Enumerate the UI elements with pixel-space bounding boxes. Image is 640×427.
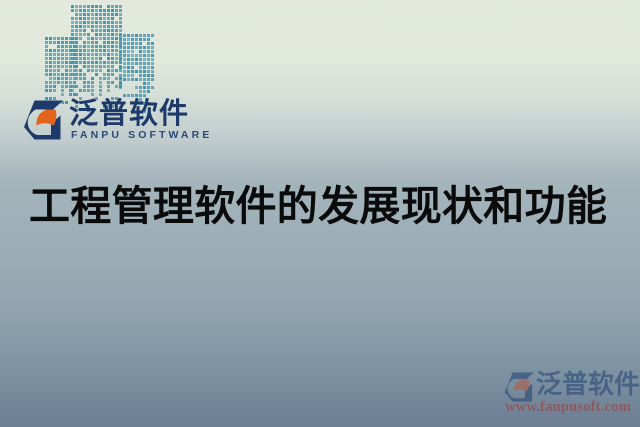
skyline-pixel-tile xyxy=(115,45,118,48)
skyline-pixel-tile xyxy=(87,89,90,92)
skyline-pixel-tile xyxy=(115,49,118,52)
skyline-pixel-tile xyxy=(71,5,74,8)
skyline-pixel-tile xyxy=(115,57,118,60)
skyline-pixel-tile xyxy=(79,5,82,8)
skyline-pixel-tile xyxy=(151,66,154,69)
skyline-pixel-tile xyxy=(131,62,134,65)
skyline-pixel-tile xyxy=(107,81,110,84)
skyline-pixel-tile xyxy=(65,85,68,88)
skyline-pixel-tile xyxy=(139,70,142,73)
skyline-pixel-tile xyxy=(143,46,146,49)
skyline-pixel-tile xyxy=(71,85,74,88)
skyline-pixel-tile xyxy=(107,25,110,28)
skyline-pixel-tile xyxy=(45,45,48,48)
pixel-mosaic-city-skyline-graphic xyxy=(40,4,146,98)
skyline-pixel-tile xyxy=(147,90,150,93)
skyline-pixel-tile xyxy=(79,77,82,80)
skyline-pixel-tile xyxy=(75,57,78,60)
skyline-pixel-tile xyxy=(99,21,102,24)
skyline-pixel-tile xyxy=(135,86,138,89)
skyline-pixel-tile xyxy=(119,17,122,20)
skyline-pixel-tile xyxy=(147,62,150,65)
skyline-pixel-tile xyxy=(151,74,154,77)
skyline-pixel-tile xyxy=(119,58,122,61)
skyline-pixel-tile xyxy=(53,73,56,76)
skyline-pixel-tile xyxy=(151,70,154,73)
skyline-pixel-tile xyxy=(49,37,52,40)
skyline-pixel-tile xyxy=(143,74,146,77)
skyline-pixel-tile xyxy=(115,37,118,40)
skyline-pixel-tile xyxy=(107,77,110,80)
skyline-pixel-tile xyxy=(143,54,146,57)
skyline-pixel-tile xyxy=(49,85,52,88)
skyline-pixel-tile xyxy=(49,61,52,64)
skyline-pixel-tile xyxy=(107,21,110,24)
skyline-pixel-tile xyxy=(79,25,82,28)
skyline-pixel-tile xyxy=(83,45,86,48)
skyline-pixel-tile xyxy=(53,49,56,52)
skyline-pixel-tile xyxy=(79,61,82,64)
skyline-pixel-tile xyxy=(139,42,142,45)
skyline-pixel-tile xyxy=(49,53,52,56)
skyline-pixel-tile xyxy=(95,9,98,12)
skyline-pixel-tile xyxy=(139,66,142,69)
skyline-pixel-tile xyxy=(91,41,94,44)
skyline-pixel-tile xyxy=(111,17,114,20)
skyline-pixel-tile xyxy=(87,33,90,36)
skyline-pixel-tile xyxy=(79,13,82,16)
skyline-pixel-tile xyxy=(49,81,52,84)
skyline-pixel-tile xyxy=(103,13,106,16)
skyline-pixel-tile xyxy=(45,49,48,52)
skyline-pixel-tile xyxy=(79,29,82,32)
skyline-pixel-tile xyxy=(139,46,142,49)
skyline-pixel-tile xyxy=(83,29,86,32)
skyline-pixel-tile xyxy=(61,41,64,44)
skyline-pixel-tile xyxy=(103,29,106,32)
skyline-pixel-tile xyxy=(119,54,122,57)
skyline-pixel-tile xyxy=(131,46,134,49)
skyline-pixel-tile xyxy=(61,81,64,84)
skyline-pixel-tile xyxy=(75,37,78,40)
skyline-pixel-tile xyxy=(147,58,150,61)
skyline-pixel-tile xyxy=(107,9,110,12)
skyline-pixel-tile xyxy=(99,49,102,52)
skyline-pixel-tile xyxy=(103,73,106,76)
skyline-pixel-tile xyxy=(49,77,52,80)
skyline-pixel-tile xyxy=(139,94,142,97)
skyline-pixel-tile xyxy=(53,65,56,68)
brand-logo: 泛普软件 FANPU SOFTWARE xyxy=(22,99,174,143)
skyline-pixel-tile xyxy=(119,82,122,85)
skyline-pixel-tile xyxy=(71,25,74,28)
skyline-pixel-tile xyxy=(131,66,134,69)
skyline-pixel-tile xyxy=(127,94,130,97)
fanpu-hexagon-logo-mark-icon xyxy=(503,372,535,402)
skyline-pixel-tile xyxy=(127,34,130,37)
skyline-pixel-tile xyxy=(65,53,68,56)
skyline-pixel-tile xyxy=(49,41,52,44)
skyline-pixel-tile xyxy=(79,9,82,12)
skyline-pixel-tile xyxy=(123,42,126,45)
skyline-pixel-tile xyxy=(107,85,110,88)
skyline-pixel-tile xyxy=(87,61,90,64)
skyline-pixel-tile xyxy=(87,41,90,44)
brand-name-en: FANPU SOFTWARE xyxy=(71,129,212,141)
skyline-pixel-tile xyxy=(115,69,118,72)
skyline-pixel-tile xyxy=(123,62,126,65)
skyline-pixel-tile xyxy=(103,17,106,20)
skyline-pixel-tile xyxy=(151,62,154,65)
skyline-pixel-tile xyxy=(147,42,150,45)
fanpu-hexagon-logo-mark-icon xyxy=(22,100,64,140)
skyline-pixel-tile xyxy=(75,17,78,20)
skyline-pixel-tile xyxy=(151,54,154,57)
skyline-pixel-tile xyxy=(119,9,122,12)
skyline-pixel-tile xyxy=(71,53,74,56)
skyline-pixel-tile xyxy=(57,57,60,60)
skyline-pixel-tile xyxy=(107,33,110,36)
skyline-pixel-tile xyxy=(71,21,74,24)
skyline-pixel-tile xyxy=(71,9,74,12)
skyline-pixel-tile xyxy=(107,5,110,8)
skyline-pixel-tile xyxy=(111,69,114,72)
skyline-pixel-tile xyxy=(147,70,150,73)
skyline-pixel-tile xyxy=(49,89,52,92)
skyline-pixel-tile xyxy=(151,34,154,37)
skyline-pixel-tile xyxy=(45,61,48,64)
skyline-pixel-tile xyxy=(103,61,106,64)
skyline-pixel-tile xyxy=(45,69,48,72)
skyline-pixel-tile xyxy=(139,86,142,89)
skyline-pixel-tile xyxy=(45,37,48,40)
skyline-pixel-tile xyxy=(147,50,150,53)
skyline-pixel-tile xyxy=(61,45,64,48)
skyline-pixel-tile xyxy=(119,78,122,81)
skyline-pixel-tile xyxy=(147,34,150,37)
skyline-pixel-tile xyxy=(83,85,86,88)
skyline-pixel-tile xyxy=(139,58,142,61)
skyline-pixel-tile xyxy=(107,65,110,68)
skyline-pixel-tile xyxy=(135,94,138,97)
skyline-pixel-tile xyxy=(115,5,118,8)
skyline-pixel-tile xyxy=(91,29,94,32)
skyline-pixel-tile xyxy=(143,38,146,41)
skyline-pixel-tile xyxy=(71,49,74,52)
skyline-pixel-tile xyxy=(91,69,94,72)
skyline-pixel-tile xyxy=(87,9,90,12)
skyline-pixel-tile xyxy=(83,41,86,44)
skyline-pixel-tile xyxy=(75,45,78,48)
skyline-pixel-tile xyxy=(69,81,72,84)
brand-name-cn: 泛普软件 xyxy=(69,98,189,130)
skyline-pixel-tile xyxy=(71,89,74,92)
skyline-pixel-tile xyxy=(99,37,102,40)
skyline-pixel-tile xyxy=(107,53,110,56)
skyline-pixel-tile xyxy=(143,82,146,85)
skyline-pixel-tile xyxy=(127,50,130,53)
skyline-pixel-tile xyxy=(135,70,138,73)
skyline-pixel-tile xyxy=(49,49,52,52)
skyline-pixel-tile xyxy=(49,65,52,68)
skyline-pixel-tile xyxy=(71,33,74,36)
skyline-pixel-tile xyxy=(65,57,68,60)
skyline-pixel-tile xyxy=(107,61,110,64)
skyline-pixel-tile xyxy=(91,17,94,20)
skyline-pixel-tile xyxy=(83,81,86,84)
skyline-pixel-tile xyxy=(57,37,60,40)
skyline-pixel-tile xyxy=(57,65,60,68)
skyline-pixel-tile xyxy=(143,58,146,61)
skyline-pixel-tile xyxy=(95,33,98,36)
skyline-pixel-tile xyxy=(143,70,146,73)
skyline-pixel-tile xyxy=(103,41,106,44)
skyline-pixel-tile xyxy=(151,46,154,49)
watermark-url: www.fanpusoft.com xyxy=(505,399,631,415)
slide-canvas: 泛普软件 FANPU SOFTWARE 工程管理软件的发展现状和功能 泛普软件 … xyxy=(0,0,640,427)
skyline-pixel-tile xyxy=(107,69,110,72)
skyline-pixel-tile xyxy=(111,81,114,84)
skyline-pixel-tile xyxy=(123,54,126,57)
skyline-pixel-tile xyxy=(115,53,118,56)
skyline-pixel-tile xyxy=(135,58,138,61)
skyline-pixel-tile xyxy=(61,93,64,96)
skyline-pixel-tile xyxy=(131,94,134,97)
skyline-pixel-tile xyxy=(75,41,78,44)
skyline-pixel-tile xyxy=(107,45,110,48)
skyline-pixel-tile xyxy=(119,46,122,49)
skyline-pixel-tile xyxy=(53,61,56,64)
skyline-pixel-tile xyxy=(107,13,110,16)
skyline-pixel-tile xyxy=(53,37,56,40)
skyline-pixel-tile xyxy=(143,78,146,81)
skyline-pixel-tile xyxy=(45,57,48,60)
skyline-pixel-tile xyxy=(143,66,146,69)
skyline-pixel-tile xyxy=(127,42,130,45)
skyline-pixel-tile xyxy=(65,45,68,48)
skyline-pixel-tile xyxy=(135,42,138,45)
skyline-pixel-tile xyxy=(87,81,90,84)
skyline-pixel-tile xyxy=(107,57,110,60)
skyline-pixel-tile xyxy=(99,65,102,68)
skyline-pixel-tile xyxy=(79,49,82,52)
skyline-pixel-tile xyxy=(61,65,64,68)
skyline-pixel-tile xyxy=(75,29,78,32)
skyline-pixel-tile xyxy=(111,13,114,16)
skyline-pixel-tile xyxy=(57,41,60,44)
skyline-pixel-tile xyxy=(123,58,126,61)
skyline-pixel-tile xyxy=(83,65,86,68)
skyline-pixel-tile xyxy=(69,77,72,80)
skyline-pixel-tile xyxy=(147,82,150,85)
skyline-pixel-tile xyxy=(127,38,130,41)
skyline-pixel-tile xyxy=(151,50,154,53)
skyline-pixel-tile xyxy=(119,5,122,8)
skyline-pixel-tile xyxy=(57,61,60,64)
skyline-pixel-tile xyxy=(61,85,64,88)
skyline-pixel-tile xyxy=(75,61,78,64)
skyline-pixel-tile xyxy=(57,77,60,80)
skyline-pixel-tile xyxy=(115,13,118,16)
skyline-pixel-tile xyxy=(57,45,60,48)
skyline-pixel-tile xyxy=(79,21,82,24)
skyline-pixel-tile xyxy=(71,57,74,60)
skyline-pixel-tile xyxy=(61,73,64,76)
skyline-pixel-tile xyxy=(69,65,72,68)
skyline-pixel-tile xyxy=(91,25,94,28)
skyline-pixel-tile xyxy=(99,29,102,32)
skyline-pixel-tile xyxy=(143,86,146,89)
skyline-pixel-tile xyxy=(45,73,48,76)
skyline-pixel-tile xyxy=(83,5,86,8)
skyline-pixel-tile xyxy=(65,37,68,40)
skyline-pixel-tile xyxy=(99,13,102,16)
skyline-pixel-tile xyxy=(99,45,102,48)
skyline-pixel-tile xyxy=(99,53,102,56)
skyline-pixel-tile xyxy=(95,5,98,8)
skyline-pixel-tile xyxy=(75,53,78,56)
skyline-pixel-tile xyxy=(71,41,74,44)
skyline-pixel-tile xyxy=(127,70,130,73)
skyline-pixel-tile xyxy=(69,93,72,96)
skyline-pixel-tile xyxy=(45,53,48,56)
skyline-pixel-tile xyxy=(119,34,122,37)
skyline-pixel-tile xyxy=(111,41,114,44)
skyline-pixel-tile xyxy=(111,49,114,52)
skyline-pixel-tile xyxy=(107,73,110,76)
skyline-pixel-tile xyxy=(111,21,114,24)
skyline-pixel-tile xyxy=(83,17,86,20)
skyline-pixel-tile xyxy=(103,45,106,48)
skyline-pixel-tile xyxy=(111,57,114,60)
skyline-pixel-tile xyxy=(83,25,86,28)
skyline-pixel-tile xyxy=(91,21,94,24)
skyline-pixel-tile xyxy=(131,58,134,61)
skyline-pixel-tile xyxy=(75,5,78,8)
skyline-pixel-tile xyxy=(111,9,114,12)
skyline-pixel-tile xyxy=(143,34,146,37)
skyline-pixel-tile xyxy=(95,49,98,52)
skyline-pixel-tile xyxy=(95,41,98,44)
skyline-pixel-tile xyxy=(115,41,118,44)
skyline-pixel-tile xyxy=(139,34,142,37)
skyline-pixel-tile xyxy=(119,13,122,16)
skyline-pixel-tile xyxy=(123,50,126,53)
skyline-pixel-tile xyxy=(111,37,114,40)
skyline-pixel-tile xyxy=(95,25,98,28)
skyline-pixel-tile xyxy=(103,49,106,52)
skyline-pixel-tile xyxy=(95,69,98,72)
skyline-pixel-tile xyxy=(79,89,82,92)
skyline-pixel-tile xyxy=(75,21,78,24)
watermark-brand-name-cn: 泛普软件 xyxy=(536,369,640,399)
skyline-pixel-tile xyxy=(95,73,98,76)
skyline-pixel-tile xyxy=(83,73,86,76)
skyline-pixel-tile xyxy=(87,25,90,28)
skyline-pixel-tile xyxy=(61,37,64,40)
skyline-pixel-tile xyxy=(79,37,82,40)
skyline-pixel-tile xyxy=(107,49,110,52)
skyline-pixel-tile xyxy=(119,74,122,77)
skyline-pixel-tile xyxy=(71,61,74,64)
skyline-pixel-tile xyxy=(131,54,134,57)
skyline-pixel-tile xyxy=(123,74,126,77)
skyline-pixel-tile xyxy=(119,86,122,89)
skyline-pixel-tile xyxy=(139,74,142,77)
skyline-pixel-tile xyxy=(115,9,118,12)
skyline-pixel-tile xyxy=(131,70,134,73)
skyline-pixel-tile xyxy=(49,69,52,72)
skyline-pixel-tile xyxy=(147,86,150,89)
skyline-pixel-tile xyxy=(87,49,90,52)
skyline-pixel-tile xyxy=(99,77,102,80)
skyline-pixel-tile xyxy=(91,57,94,60)
skyline-pixel-tile xyxy=(75,65,78,68)
skyline-pixel-tile xyxy=(45,65,48,68)
skyline-pixel-tile xyxy=(53,85,56,88)
skyline-pixel-tile xyxy=(45,41,48,44)
page-title: 工程管理软件的发展现状和功能 xyxy=(29,180,614,232)
skyline-pixel-tile xyxy=(69,69,72,72)
skyline-pixel-tile xyxy=(75,85,78,88)
skyline-pixel-tile xyxy=(65,73,68,76)
skyline-pixel-tile xyxy=(87,65,90,68)
skyline-pixel-tile xyxy=(53,57,56,60)
skyline-pixel-tile xyxy=(99,9,102,12)
skyline-pixel-tile xyxy=(111,25,114,28)
skyline-pixel-tile xyxy=(107,41,110,44)
skyline-pixel-tile xyxy=(95,37,98,40)
skyline-pixel-tile xyxy=(103,9,106,12)
skyline-pixel-tile xyxy=(147,38,150,41)
skyline-pixel-tile xyxy=(83,89,86,92)
skyline-pixel-tile xyxy=(103,21,106,24)
skyline-pixel-tile xyxy=(83,77,86,80)
skyline-pixel-tile xyxy=(127,66,130,69)
skyline-pixel-tile xyxy=(79,45,82,48)
skyline-pixel-tile xyxy=(131,78,134,81)
skyline-pixel-tile xyxy=(65,41,68,44)
skyline-pixel-tile xyxy=(111,45,114,48)
skyline-pixel-tile xyxy=(91,65,94,68)
skyline-pixel-tile xyxy=(103,37,106,40)
skyline-pixel-tile xyxy=(131,38,134,41)
skyline-pixel-tile xyxy=(95,29,98,32)
skyline-pixel-tile xyxy=(143,62,146,65)
skyline-pixel-tile xyxy=(115,85,118,88)
skyline-pixel-tile xyxy=(151,86,154,89)
skyline-pixel-tile xyxy=(139,78,142,81)
skyline-pixel-tile xyxy=(91,49,94,52)
skyline-pixel-tile xyxy=(83,9,86,12)
skyline-pixel-tile xyxy=(99,25,102,28)
skyline-pixel-tile xyxy=(75,9,78,12)
skyline-pixel-tile xyxy=(79,33,82,36)
skyline-pixel-tile xyxy=(107,17,110,20)
skyline-pixel-tile xyxy=(147,78,150,81)
skyline-pixel-tile xyxy=(99,61,102,64)
skyline-pixel-tile xyxy=(99,81,102,84)
skyline-pixel-tile xyxy=(91,37,94,40)
skyline-pixel-tile xyxy=(95,45,98,48)
skyline-pixel-tile xyxy=(87,45,90,48)
skyline-pixel-tile xyxy=(123,66,126,69)
skyline-pixel-tile xyxy=(71,37,74,40)
skyline-pixel-tile xyxy=(91,9,94,12)
skyline-pixel-tile xyxy=(107,89,110,92)
skyline-pixel-tile xyxy=(75,93,78,96)
skyline-pixel-tile xyxy=(111,53,114,56)
